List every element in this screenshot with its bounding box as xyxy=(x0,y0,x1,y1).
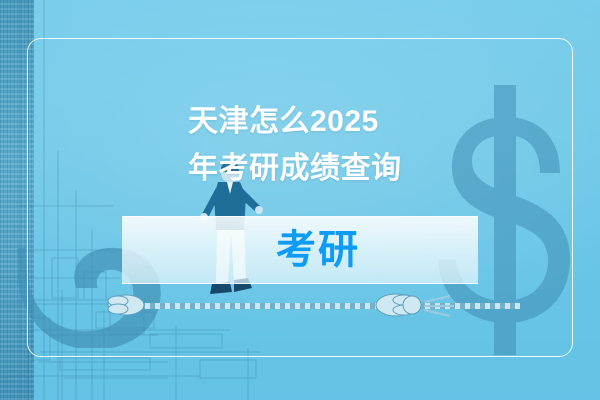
promo-banner: 天津怎么2025 年考研成绩查询 考研 xyxy=(0,0,600,400)
title-line-1: 天津怎么2025 xyxy=(188,98,488,145)
keyword-band: 考研 xyxy=(122,216,478,284)
keyword-label: 考研 xyxy=(276,230,360,270)
page-title: 天津怎么2025 年考研成绩查询 xyxy=(188,98,488,193)
rope-icon xyxy=(0,288,600,324)
title-line-2: 年考研成绩查询 xyxy=(188,145,488,192)
